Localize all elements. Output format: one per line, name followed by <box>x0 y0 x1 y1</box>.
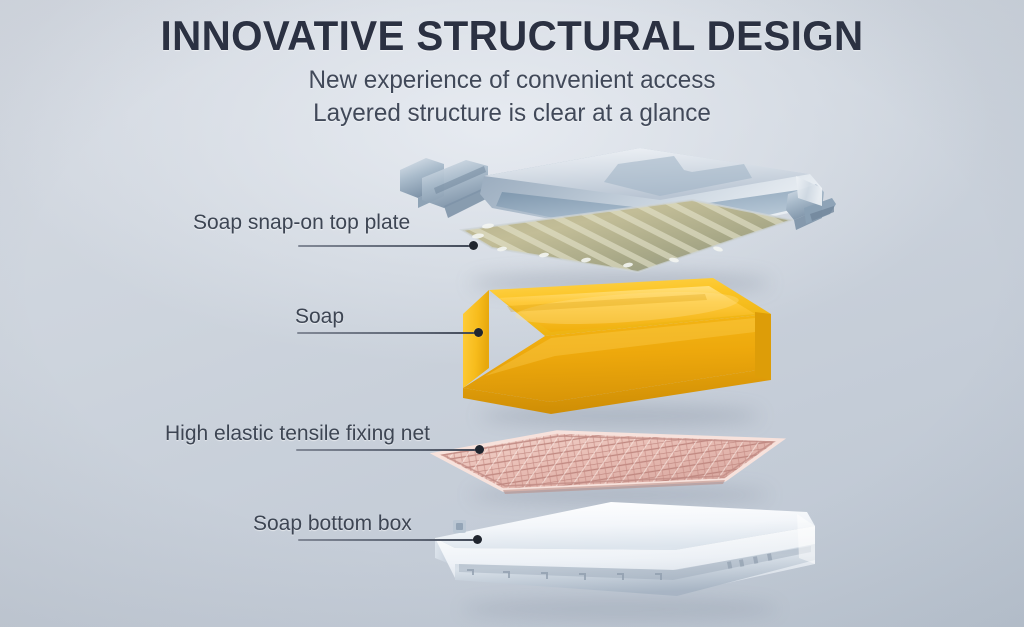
callout-bottom-box: Soap bottom box <box>253 513 493 557</box>
callout-top-plate: Soap snap-on top plate <box>193 212 483 256</box>
leader-line-bottom-box <box>298 539 476 541</box>
callout-label-soap: Soap <box>295 306 344 327</box>
soap-right-face <box>755 312 771 380</box>
title-block: INNOVATIVE STRUCTURAL DESIGN New experie… <box>0 14 1024 129</box>
leader-line-fixing-net <box>296 449 477 451</box>
subtitle-line-1: New experience of convenient access <box>15 64 1008 97</box>
leader-dot-soap <box>474 328 483 337</box>
leader-dot-top-plate <box>469 241 478 250</box>
subtitle-line-2: Layered structure is clear at a glance <box>15 97 1008 130</box>
top-plate-left-clip <box>400 158 488 218</box>
callout-soap: Soap <box>295 306 490 350</box>
leader-dot-fixing-net <box>475 445 484 454</box>
slide-canvas: INNOVATIVE STRUCTURAL DESIGN New experie… <box>0 0 1024 627</box>
leader-line-soap <box>297 332 476 334</box>
leader-line-top-plate <box>298 245 471 247</box>
callout-label-fixing-net: High elastic tensile fixing net <box>165 423 430 444</box>
callout-label-top-plate: Soap snap-on top plate <box>193 212 410 233</box>
callout-label-bottom-box: Soap bottom box <box>253 513 412 534</box>
callout-fixing-net: High elastic tensile fixing net <box>165 423 490 467</box>
page-title: INNOVATIVE STRUCTURAL DESIGN <box>20 14 1003 58</box>
leader-dot-bottom-box <box>473 535 482 544</box>
